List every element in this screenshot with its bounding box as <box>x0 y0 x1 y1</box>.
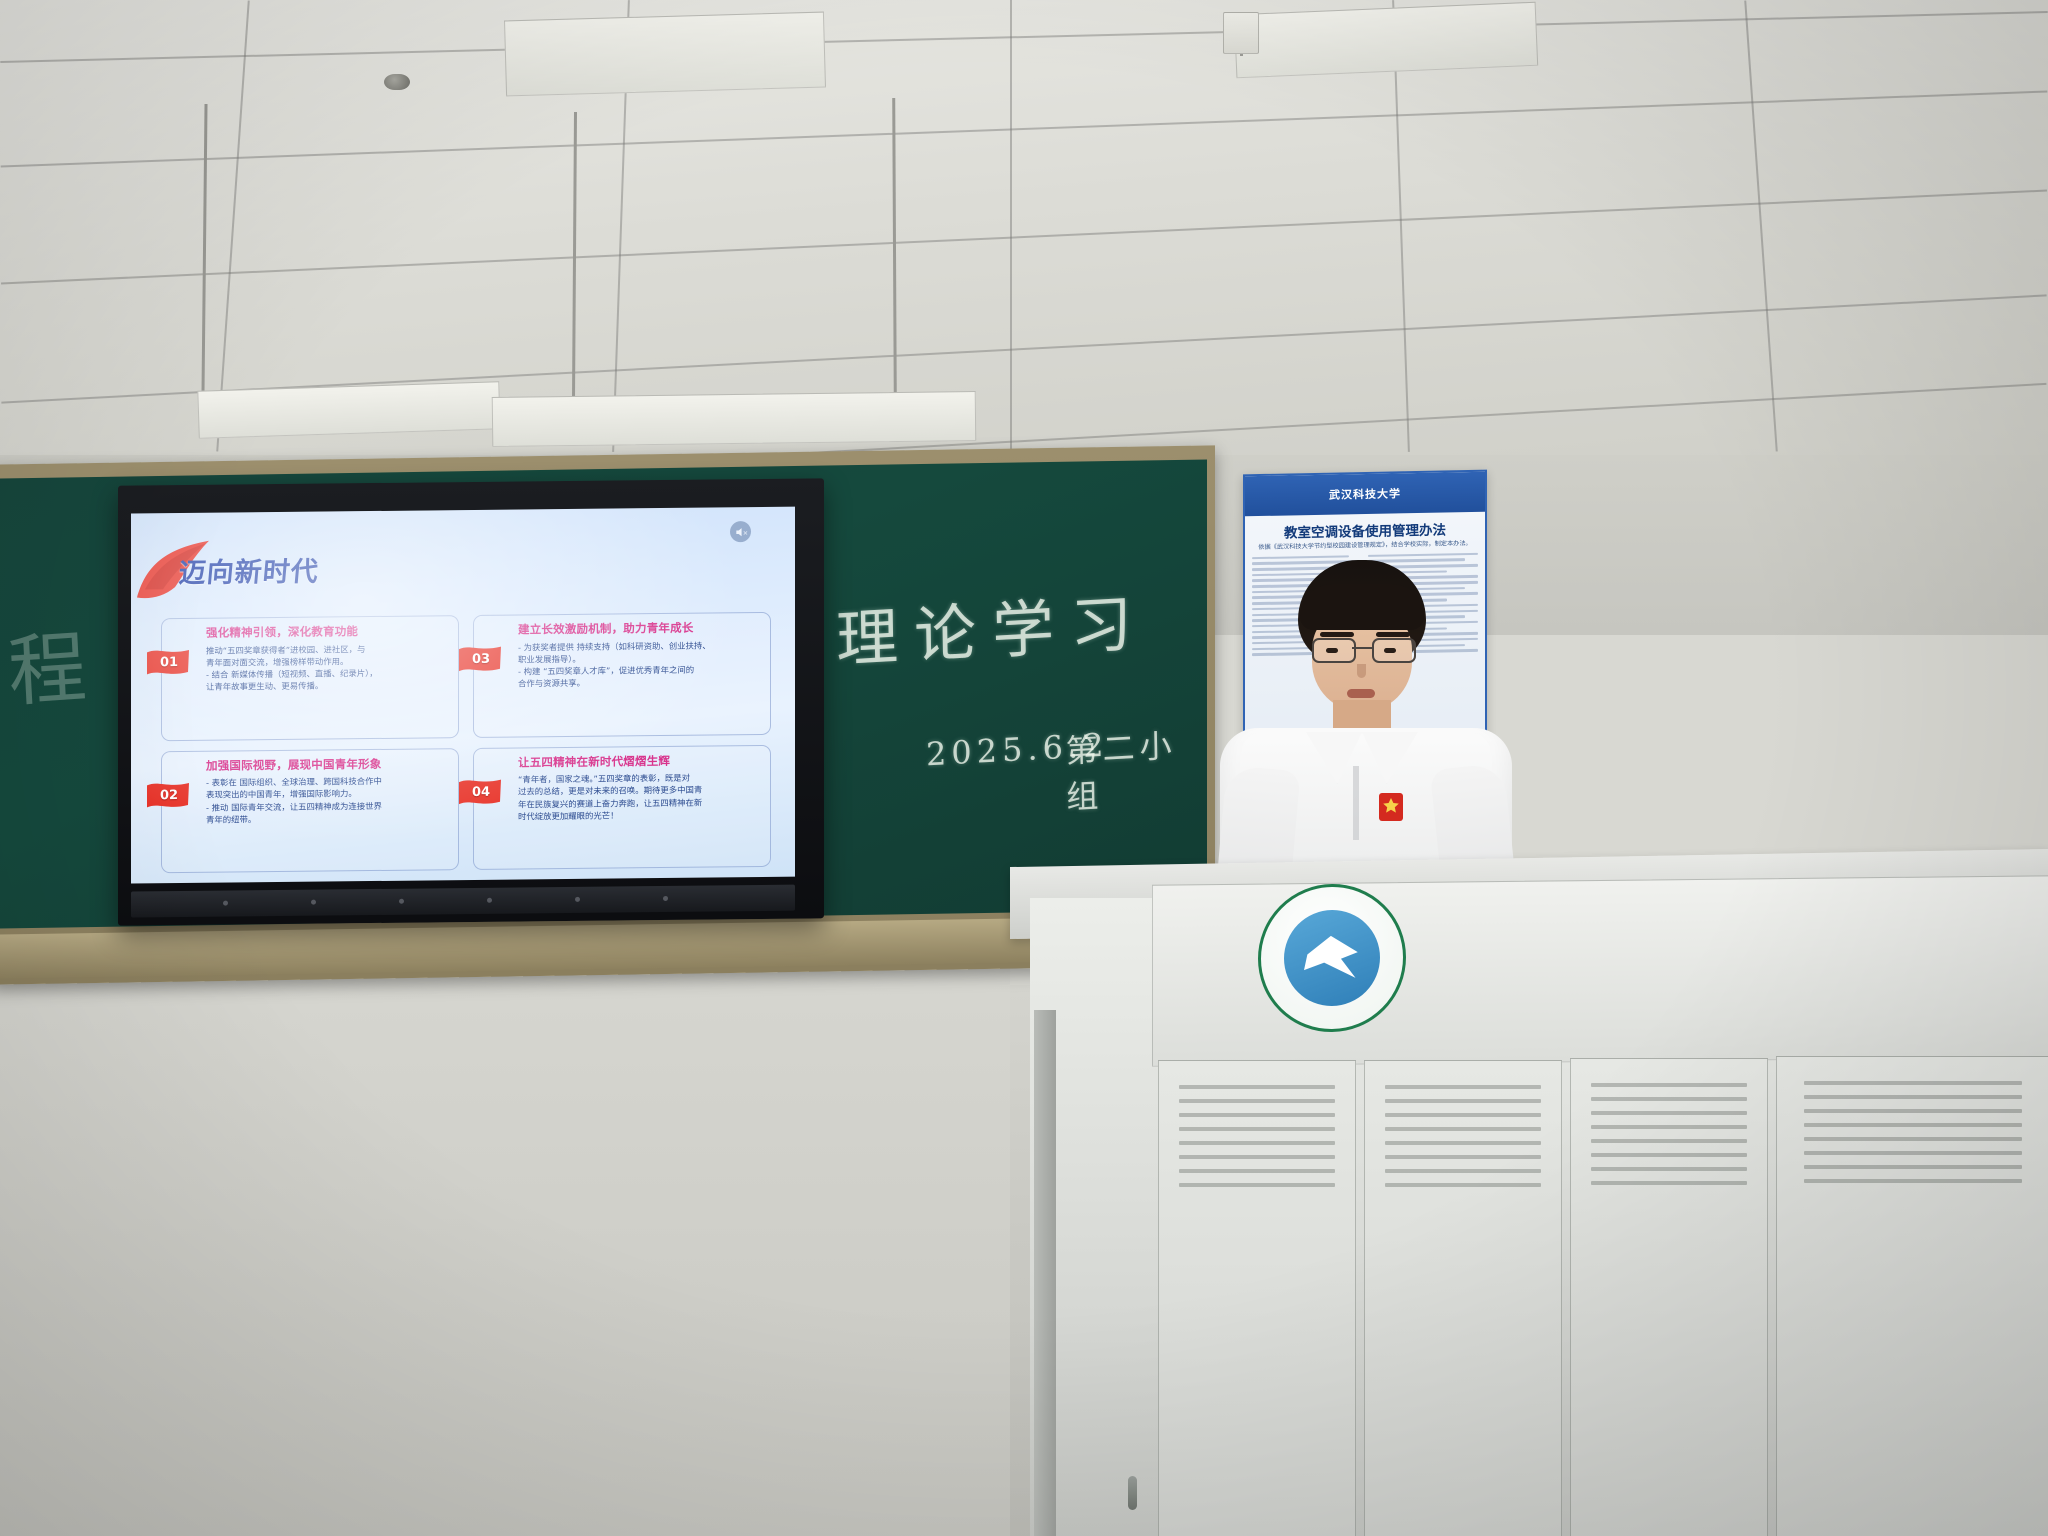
cabinet-handle[interactable] <box>1128 1476 1137 1510</box>
nose <box>1357 664 1366 678</box>
slide-card-01: 01 强化精神引领，深化教育功能 推动“五四奖章获得者”进校园、进社区，与 青年… <box>161 615 459 741</box>
speaker-mute-icon[interactable]: × <box>730 521 751 542</box>
blackboard-ghost-text: 程 <box>5 605 89 722</box>
blackboard-group: 第二小组 <box>1065 719 1208 819</box>
chest-badge-icon <box>1378 792 1404 822</box>
card-line: 青年的纽带。 <box>206 811 450 826</box>
slide-card-02: 02 加强国际视野，展现中国青年形象 - 表彰在 国际组织、全球治理、跨国科技合… <box>161 748 459 874</box>
poster-header: 武汉科技大学 <box>1245 472 1485 517</box>
shirt-placket <box>1353 766 1359 840</box>
projection-screen[interactable]: 迈向新时代 × 01 强化精神引领，深化教育功 <box>131 507 795 884</box>
slide-card-03: 03 建立长效激励机制，助力青年成长 - 为获奖者提供 持续支持（如科研资助、创… <box>473 612 771 738</box>
eye <box>1384 648 1396 653</box>
card-title: 让五四精神在新时代熠熠生辉 <box>518 753 762 769</box>
poster-university-name: 武汉科技大学 <box>1329 485 1401 502</box>
card-title: 建立长效激励机制，助力青年成长 <box>518 621 762 637</box>
slide-card-04: 04 让五四精神在新时代熠熠生辉 “青年者，国家之魂。”五四奖章的表彰，既是对 … <box>473 744 771 870</box>
card-line: 合作与资源共享。 <box>518 675 762 690</box>
card-line: 时代绽放更加耀眼的光芒！ <box>518 808 762 823</box>
display-control-bar[interactable] <box>131 885 795 918</box>
eye <box>1326 648 1338 653</box>
poster-title: 教室空调设备使用管理办法 <box>1249 518 1481 542</box>
poster-subtitle: 依据《武汉科技大学节约型校园建设管理规定》，结合学校实际，制定本办法。 <box>1253 540 1477 553</box>
card-line: 让青年故事更生动、更易传播。 <box>206 679 450 694</box>
hanging-light-tube <box>492 391 977 447</box>
podium-leg <box>1034 1010 1056 1536</box>
cabinet-door-right[interactable] <box>1570 1058 1768 1536</box>
card-title: 强化精神引领，深化教育功能 <box>206 624 450 640</box>
mouth <box>1347 689 1375 698</box>
hanging-light-tube <box>197 381 500 438</box>
card-title: 加强国际视野，展现中国青年形象 <box>206 757 450 773</box>
blackboard-heading: 理论学习 <box>835 572 1149 679</box>
card-number: 02 <box>157 788 181 803</box>
presentation-slide: 迈向新时代 × 01 强化精神引领，深化教育功 <box>131 507 795 884</box>
logo-bird-icon <box>1304 934 1360 981</box>
card-number: 01 <box>157 655 181 670</box>
card-number: 03 <box>469 652 493 667</box>
cabinet-door-far-right[interactable] <box>1776 1056 2048 1536</box>
blackboard-date: 2025.6.2 <box>926 726 1109 774</box>
slide-title: 迈向新时代 <box>177 550 320 591</box>
ceiling-speaker <box>1223 12 1259 54</box>
classroom-scene: 程 理论学习 2025.6.2 第二小组 迈向新时代 × <box>0 0 2048 1536</box>
svg-text:×: × <box>742 529 747 537</box>
cabinet-door-middle[interactable] <box>1364 1060 1562 1536</box>
logo-emblem <box>1284 909 1380 1006</box>
eyebrow <box>1320 632 1354 637</box>
wall-left-lower <box>0 960 1010 1536</box>
slide-card-grid: 01 强化精神引领，深化教育功能 推动“五四奖章获得者”进校园、进社区，与 青年… <box>161 612 771 873</box>
cabinet-door-left[interactable] <box>1158 1060 1356 1536</box>
sprinkler-icon <box>384 74 410 90</box>
ceiling-light-panel <box>1234 2 1538 79</box>
card-number: 04 <box>469 784 493 799</box>
eyebrow <box>1376 632 1410 637</box>
ceiling-light-panel <box>504 12 826 97</box>
interactive-display[interactable]: 迈向新时代 × 01 强化精神引领，深化教育功 <box>118 478 824 925</box>
hair-fringe <box>1300 584 1424 630</box>
